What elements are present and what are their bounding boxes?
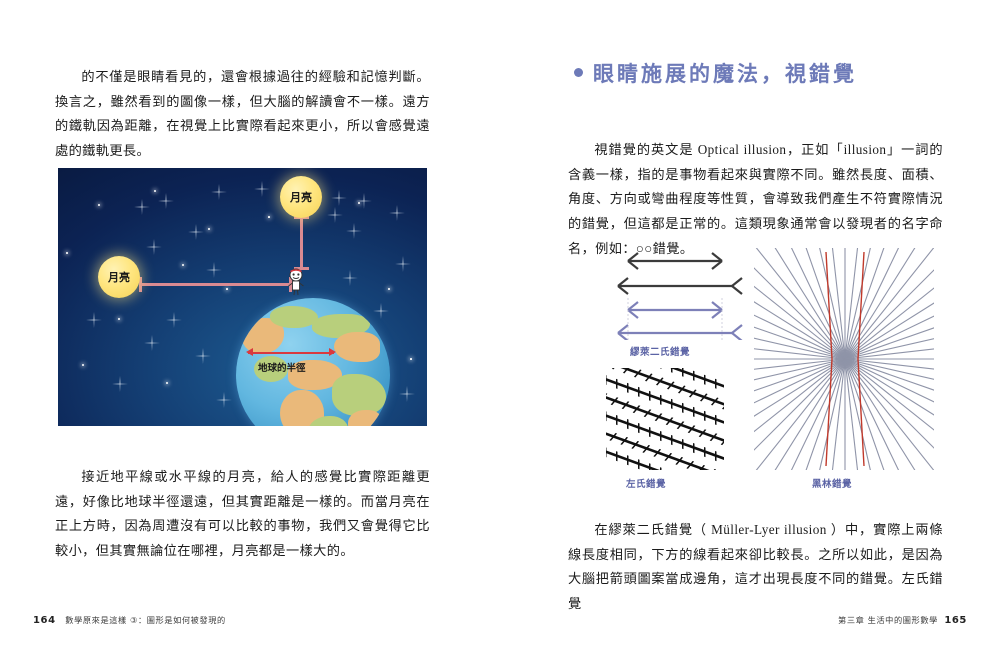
footer-left-text: 數學原來是這樣 ③：圖形是如何被發現的 <box>65 615 226 625</box>
section-heading: 眼睛施展的魔法，視錯覺 <box>574 58 857 88</box>
muller-lyer-illusion-figure <box>614 248 744 340</box>
left-page: 的不僅是眼睛看見的，還會根據過往的經驗和記憶判斷。換言之，雖然看到的圖像一樣，但… <box>55 0 430 650</box>
star-dot <box>82 364 84 366</box>
star-dot <box>226 288 228 290</box>
footer-left: 164 數學原來是這樣 ③：圖形是如何被發現的 <box>33 614 226 626</box>
earth-radius-arrow <box>248 352 334 354</box>
right-page: 眼睛施展的魔法，視錯覺 視錯覺的英文是 Optical illusion，正如「… <box>568 0 943 650</box>
moon-left: 月亮 <box>98 256 140 298</box>
earth-radius-arrowhead-right <box>329 348 336 356</box>
observer-person-icon <box>286 268 306 296</box>
moon-distance-illustration: 地球的半徑 月亮 月亮 <box>58 168 427 426</box>
moon-top: 月亮 <box>280 176 322 218</box>
star-dot <box>358 202 360 204</box>
illusion-figures: 繆萊二氏錯覺 <box>568 248 943 496</box>
right-paragraph-2: 在繆萊二氏錯覺（ Müller-Lyer illusion ）中，實際上兩條線長… <box>568 518 943 616</box>
star-dot <box>154 190 156 192</box>
star-dot <box>268 216 270 218</box>
hering-caption: 黑林錯覺 <box>812 476 852 490</box>
distance-line-horizontal <box>140 283 292 286</box>
bullet-icon <box>574 68 583 77</box>
star-dot <box>118 318 120 320</box>
star-dot <box>66 252 68 254</box>
book-spread: 的不僅是眼睛看見的，還會根據過往的經驗和記憶判斷。換言之，雖然看到的圖像一樣，但… <box>0 0 1000 650</box>
footer-right-chapter: 第三章 生活中的圖形數學 <box>838 615 938 625</box>
muller-lyer-caption: 繆萊二氏錯覺 <box>630 344 690 358</box>
star-dot <box>182 264 184 266</box>
footer-right: 第三章 生活中的圖形數學 165 <box>838 614 967 626</box>
earth-landmass <box>334 332 380 362</box>
earth-radius-arrowhead-left <box>246 348 253 356</box>
star-dot <box>166 382 168 384</box>
section-heading-text: 眼睛施展的魔法，視錯覺 <box>593 62 857 86</box>
left-paragraph-top: 的不僅是眼睛看見的，還會根據過往的經驗和記憶判斷。換言之，雖然看到的圖像一樣，但… <box>55 65 430 163</box>
footer-left-page-number: 164 <box>33 615 56 626</box>
left-paragraph-bottom: 接近地平線或水平線的月亮，給人的感覺比實際距離更遠，好像比地球半徑還遠，但其實距… <box>55 465 430 563</box>
star-dot <box>410 358 412 360</box>
star-dot <box>208 228 210 230</box>
zollner-caption: 左氏錯覺 <box>626 476 666 490</box>
hering-illusion-figure <box>754 248 934 470</box>
star-dot <box>98 204 100 206</box>
distance-line-vertical <box>300 218 303 270</box>
earth-landmass <box>348 410 382 426</box>
earth-radius-label: 地球的半徑 <box>258 360 306 374</box>
earth-landmass <box>270 306 318 328</box>
zollner-illusion-figure <box>606 368 724 470</box>
footer-right-page-number: 165 <box>944 615 967 626</box>
right-paragraph-1: 視錯覺的英文是 Optical illusion，正如「illusion」一詞的… <box>568 138 943 261</box>
star-dot <box>388 288 390 290</box>
